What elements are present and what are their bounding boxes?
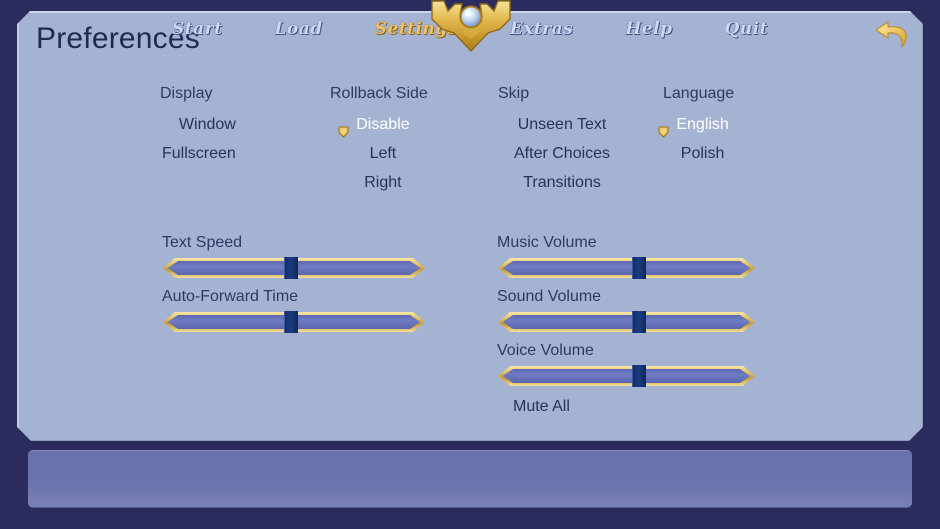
option-skip-after-choices[interactable]: After Choices [512,139,612,168]
preferences-panel [17,11,923,441]
slider-thumb-text-speed[interactable] [284,257,298,279]
slider-thumb-sound-volume[interactable] [632,311,646,333]
option-display-fullscreen[interactable]: Fullscreen [160,139,238,168]
mute-all-button[interactable]: Mute All [513,398,570,416]
nav-item-load[interactable]: Load [274,19,322,39]
slider-voice-volume: Voice Volume [497,342,756,387]
slider-track-text-speed[interactable] [162,257,426,279]
option-label: Disable [356,116,409,133]
option-label: Right [364,174,401,191]
option-label: Left [370,145,397,162]
option-display-window[interactable]: Window [177,110,238,139]
slider-sound-volume: Sound Volume [497,288,756,333]
option-skip-transitions[interactable]: Transitions [521,168,603,197]
slider-label: Sound Volume [497,288,756,306]
option-group-skip: Skip Unseen Text After Choices Transitio… [498,85,612,197]
game-screen: Preferences [0,0,940,529]
nav-item-start[interactable]: Start [172,19,222,39]
option-label: Window [179,116,236,133]
slider-track-sound-volume[interactable] [497,311,756,333]
gold-crest-gem-ornament-icon [428,0,514,55]
selected-marker-shield-icon [338,119,349,131]
option-group-title: Rollback Side [330,85,428,103]
slider-thumb-music-volume[interactable] [632,257,646,279]
option-group-rollback-side: Rollback Side Disable Left Right [330,85,428,197]
option-rollback-right[interactable]: Right [362,168,403,197]
option-label: Fullscreen [162,145,236,162]
option-group-title: Display [160,85,240,103]
panel-corner-notch-bottom-right [909,427,923,441]
slider-label: Auto-Forward Time [162,288,426,306]
slider-label: Voice Volume [497,342,756,360]
bottom-navigation-bar [28,450,912,508]
option-group-title: Language [663,85,734,103]
nav-item-extras[interactable]: Extras [510,19,574,39]
slider-label: Music Volume [497,234,756,252]
option-language-english[interactable]: English [674,110,730,139]
slider-label: Text Speed [162,234,426,252]
option-skip-unseen-text[interactable]: Unseen Text [516,110,609,139]
option-label: Transitions [523,174,601,191]
slider-track-music-volume[interactable] [497,257,756,279]
option-label: Polish [681,145,725,162]
selected-marker-shield-icon [658,119,669,131]
option-group-title: Skip [498,85,612,103]
return-arrow-icon[interactable] [872,14,918,56]
nav-item-help[interactable]: Help [625,19,672,39]
slider-auto-forward-time: Auto-Forward Time [162,288,426,333]
slider-text-speed: Text Speed [162,234,426,279]
slider-thumb-voice-volume[interactable] [632,365,646,387]
option-label: After Choices [514,145,610,162]
panel-corner-notch-bottom-left [17,427,31,441]
slider-thumb-auto-forward[interactable] [284,311,298,333]
option-label: Unseen Text [518,116,607,133]
option-group-display: Display Window Fullscreen [160,85,240,168]
option-group-language: Language English Polish [663,85,734,168]
option-rollback-disable[interactable]: Disable [354,110,411,139]
nav-item-quit[interactable]: Quit [724,19,767,39]
slider-track-voice-volume[interactable] [497,365,756,387]
slider-music-volume: Music Volume [497,234,756,279]
option-language-polish[interactable]: Polish [679,139,727,168]
option-label: English [676,116,728,133]
slider-track-auto-forward[interactable] [162,311,426,333]
option-rollback-left[interactable]: Left [368,139,399,168]
